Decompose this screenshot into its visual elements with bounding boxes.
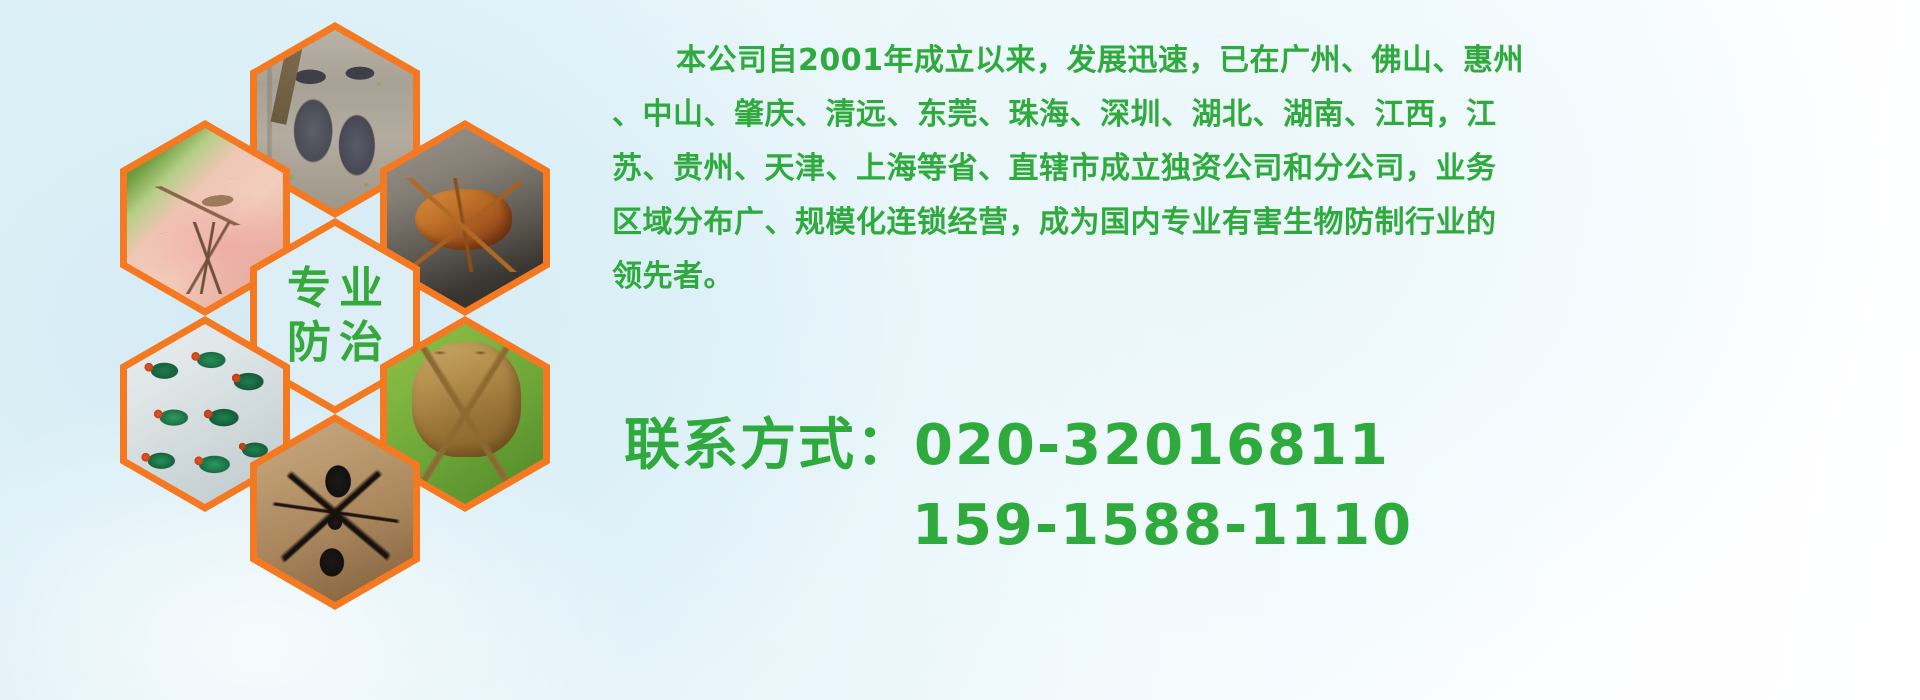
- contact-mobile[interactable]: 159-1588-1110: [624, 486, 1824, 566]
- description-line-3: 苏、贵州、天津、上海等省、直辖市成立独资公司和分公司，业务: [612, 142, 1884, 196]
- description-line-5: 领先者。: [612, 250, 1884, 304]
- description-line-2: 、中山、肇庆、清远、东莞、珠海、深圳、湖北、湖南、江西，江: [612, 88, 1884, 142]
- contact-block: 联系方式：020-32016811 159-1588-1110: [624, 406, 1824, 566]
- ant-photo-icon: [257, 422, 413, 602]
- description-line-1: 本公司自2001年成立以来，发展迅速，已在广州、佛山、惠州: [612, 34, 1884, 88]
- company-description-paragraph: 本公司自2001年成立以来，发展迅速，已在广州、佛山、惠州 、中山、肇庆、清远、…: [612, 34, 1884, 304]
- company-description-block: 本公司自2001年成立以来，发展迅速，已在广州、佛山、惠州 、中山、肇庆、清远、…: [612, 34, 1884, 304]
- honeycomb-image-cluster: 专业 防治: [90, 0, 590, 560]
- hex-inner-ant: [257, 422, 413, 602]
- slogan-word-bottom: 防治: [279, 319, 391, 367]
- slogan-word-top: 专业: [279, 265, 391, 313]
- contact-landline[interactable]: 联系方式：020-32016811: [624, 406, 1824, 486]
- description-line-4: 区域分布广、规模化连锁经营，成为国内专业有害生物防制行业的: [612, 196, 1884, 250]
- pest-control-banner: 专业 防治 本公司自2001年成立以来，发展迅速，已在广州、佛山、惠州 、中山、…: [0, 0, 1920, 700]
